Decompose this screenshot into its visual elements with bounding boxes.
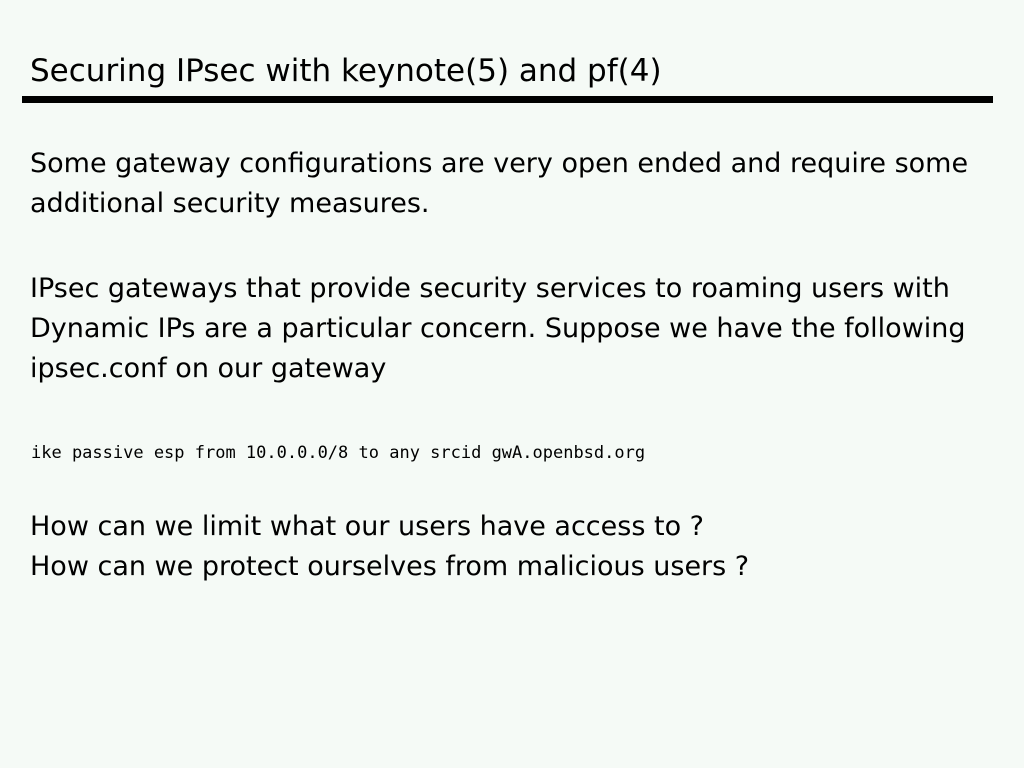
presentation-slide: Securing IPsec with keynote(5) and pf(4)… [0, 0, 1024, 768]
body-paragraph-1: Some gateway configurations are very ope… [30, 144, 990, 224]
page-title: Securing IPsec with keynote(5) and pf(4) [30, 52, 662, 90]
question-line-2: How can we protect ourselves from malici… [30, 547, 990, 587]
questions-block: How can we limit what our users have acc… [30, 507, 990, 587]
question-line-1: How can we limit what our users have acc… [30, 507, 990, 547]
ipsec-conf-code-line: ike passive esp from 10.0.0.0/8 to any s… [31, 441, 990, 465]
title-divider [22, 96, 993, 103]
body-paragraph-2: IPsec gateways that provide security ser… [30, 269, 990, 389]
slide-body: Some gateway configurations are very ope… [30, 140, 990, 587]
